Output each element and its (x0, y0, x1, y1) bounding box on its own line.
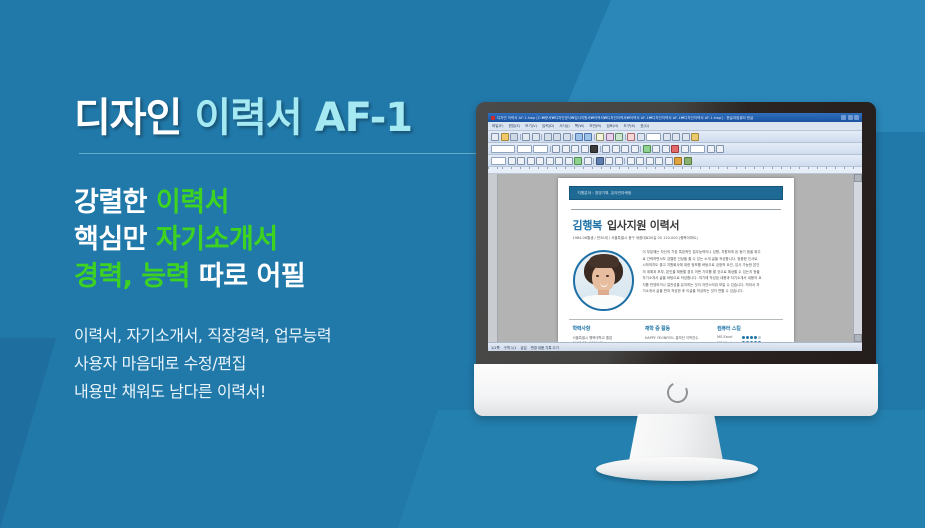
cut-icon[interactable] (544, 133, 552, 141)
subtitle-line-3-green: 경력, 능력 (74, 261, 190, 292)
page-scroll-area: 지원분야 : 경영기획, 온라인마케팅 김행복 입사지원 이력서 1984.06… (498, 174, 853, 342)
app-title-text: 디자인 이력서 AF-1.hwp [C:₩문서₩디자인양식₩입사지원서₩이력서₩… (497, 115, 839, 120)
zoom-out-icon[interactable] (672, 133, 680, 141)
menu-item-format[interactable]: 서식(J) (559, 124, 569, 129)
zoom-in-icon[interactable] (663, 133, 671, 141)
resume-column-activities: 재학 중 활동 HAPPY YEONFEEL 홍보단 이학연수 2003.06~… (645, 325, 710, 342)
save-icon[interactable] (510, 133, 518, 141)
app-menu-bar[interactable]: 파일(F) 편집(E) 보기(V) 입력(D) 서식(J) 쪽(W) 보안(R)… (488, 122, 862, 131)
insert-table-icon[interactable] (596, 133, 604, 141)
toolbar-separator (594, 134, 595, 140)
close-icon[interactable] (854, 115, 859, 120)
horizontal-ruler[interactable] (488, 167, 862, 174)
font-color-icon[interactable] (590, 145, 598, 153)
toolbar-formatting[interactable] (488, 143, 862, 155)
resume-column-education: 학력사항 서울특별시 행복대학교 졸업 1997.03~2000.02 (573, 325, 638, 342)
skill-rating (742, 336, 761, 339)
subtitle-line-2: 핵심만 자기소개서 (74, 221, 494, 258)
bold-icon[interactable] (552, 145, 560, 153)
hwp-app-icon (491, 116, 495, 120)
flip-icon[interactable] (646, 157, 654, 165)
undo-icon[interactable] (575, 133, 583, 141)
resume-divider-top (571, 209, 781, 210)
menu-item-table[interactable]: 표(Q) (640, 124, 649, 129)
paste-icon[interactable] (563, 133, 571, 141)
vertical-scrollbar[interactable] (853, 174, 862, 342)
education-line: 1997.03~2000.02 (573, 341, 638, 342)
monitor-mockup: 디자인 이력서 AF-1.hwp [C:₩문서₩디자인양식₩입사지원서₩이력서₩… (476, 102, 878, 408)
rating-dot-filled (742, 336, 745, 339)
print-preview-icon[interactable] (532, 133, 540, 141)
fit-page-icon[interactable] (682, 133, 690, 141)
rating-dot-empty (758, 336, 761, 339)
activities-line: 2003.06~2004.05 (1년) (645, 341, 710, 342)
style-select[interactable] (491, 145, 515, 153)
resume-title: 입사지원 이력서 (607, 217, 679, 233)
toolbar-standard[interactable] (488, 131, 862, 143)
photo-hair-front (589, 254, 619, 268)
intro-line: 자기소개서 글을 바탕으로 작성합니다. 여기에 작성된 내용과 자기소개서 내… (643, 276, 783, 281)
description-line-3: 내용만 채워도 남다른 이력서! (74, 378, 494, 406)
shape-preset-select[interactable] (491, 157, 506, 165)
redo-icon[interactable] (584, 133, 592, 141)
polygon-shape-icon[interactable] (555, 157, 563, 165)
rating-dot-filled (758, 341, 761, 342)
photo-face (592, 265, 615, 292)
rating-dot-filled (746, 341, 749, 342)
resume-heading: 김행복 입사지원 이력서 (569, 217, 783, 233)
resume-columns: 학력사항 서울특별시 행복대학교 졸업 1997.03~2000.02 재학 중… (569, 319, 783, 342)
scroll-up-arrow[interactable] (854, 174, 862, 182)
menu-item-tools[interactable]: 도구(K) (623, 124, 635, 129)
resume-column-computer-skills: 컴퓨터 스킬 MS-Excel (717, 325, 782, 342)
menu-item-input[interactable]: 입력(D) (542, 124, 554, 129)
toolbar-drawing[interactable] (488, 155, 862, 167)
hero-text-column: 디자인 이력서 AF-1 강렬한 이력서 핵심만 자기소개서 경력, 능력 따로… (74, 96, 494, 407)
skill-label: MS-Word (717, 341, 739, 343)
object-properties-icon[interactable] (674, 157, 682, 165)
status-track-changes: 변경 내용 기록 끄기 (531, 345, 559, 350)
border-icon[interactable] (681, 145, 689, 153)
window-controls[interactable] (841, 115, 859, 120)
resume-intro-text: 이 부분에는 자신의 가장 특징적인 업무능력이나 성향, 지원하게 된 동기 … (643, 250, 783, 311)
rating-dot-filled (746, 336, 749, 339)
minimize-icon[interactable] (841, 115, 846, 120)
underline-icon[interactable] (571, 145, 579, 153)
italic-icon[interactable] (562, 145, 570, 153)
open-file-icon[interactable] (501, 133, 509, 141)
resume-field-band: 지원분야 : 경영기획, 온라인마케팅 (569, 186, 783, 200)
education-heading: 학력사항 (573, 325, 638, 332)
page-title-white: 디자인 (74, 95, 194, 141)
select-arrow-icon[interactable] (508, 157, 516, 165)
subtitle-line-1-green: 이력서 (156, 187, 229, 218)
group-icon[interactable] (584, 157, 592, 165)
intro-line: 의 계획과 포부, 본인을 채용할 경우 어떤 기여를 할 것으로 예상할 수 … (643, 270, 783, 275)
line-color-icon[interactable] (605, 157, 613, 165)
subtitle-line-3: 경력, 능력 따로 어필 (74, 258, 494, 295)
align-left-icon[interactable] (602, 145, 610, 153)
textbox-icon[interactable] (574, 157, 582, 165)
maximize-icon[interactable] (848, 115, 853, 120)
menu-item-page[interactable]: 쪽(W) (575, 124, 585, 129)
activities-heading: 재학 중 활동 (645, 325, 710, 332)
slide-canvas: 디자인 이력서 AF-1 강렬한 이력서 핵심만 자기소개서 경력, 능력 따로… (0, 0, 925, 528)
applicant-name: 김행복 (573, 217, 602, 233)
ellipse-shape-icon[interactable] (536, 157, 544, 165)
menu-item-file[interactable]: 파일(F) (492, 124, 503, 129)
spellcheck-icon[interactable] (627, 133, 635, 141)
rating-dot-filled (754, 336, 757, 339)
hero-description: 이력서, 자기소개서, 직장경력, 업무능력 사용자 마음대로 수정/편집 내용… (74, 322, 494, 407)
skill-rating (742, 341, 761, 342)
freeform-shape-icon[interactable] (565, 157, 573, 165)
subtitle-line-2-green: 자기소개서 (156, 224, 278, 255)
toolbar-separator (640, 146, 641, 152)
hero-subtitle: 강렬한 이력서 핵심만 자기소개서 경력, 능력 따로 어필 (74, 184, 494, 296)
applicant-meta: 1984.06월생 / 만30세 / 서울특별시 중구 세종대로00길 00 1… (569, 236, 783, 241)
fill-color-icon[interactable] (596, 157, 604, 165)
intro-line: 기소개서 글을 먼저 작성한 후 이글을 작성하는 것이 편할 수 있습니다. (643, 289, 783, 294)
document-canvas: 지원분야 : 경영기획, 온라인마케팅 김행복 입사지원 이력서 1984.06… (488, 174, 862, 342)
macro-icon[interactable] (684, 157, 692, 165)
circle-logo-icon (664, 379, 690, 405)
new-document-icon[interactable] (491, 133, 499, 141)
activities-line: HAPPY YEONFEEL 홍보단 이학연수 (645, 335, 710, 340)
rating-dot-filled (750, 341, 753, 342)
insert-chart-icon[interactable] (606, 133, 614, 141)
toolbar-separator (624, 158, 625, 164)
zoom-level-field[interactable] (646, 133, 661, 141)
subtitle-line-2-white: 핵심만 (74, 224, 156, 255)
rating-dot-filled (742, 341, 745, 342)
insert-image-icon[interactable] (615, 133, 623, 141)
font-family-select[interactable] (517, 145, 532, 153)
order-back-icon[interactable] (665, 157, 673, 165)
photo-eye-right (606, 275, 609, 277)
vertical-ruler (488, 174, 498, 342)
skills-heading: 컴퓨터 스킬 (717, 325, 782, 332)
title-divider (79, 153, 477, 154)
font-size-select[interactable] (533, 145, 548, 153)
align-justify-icon[interactable] (631, 145, 639, 153)
intro-line: 로 간략하면서도 강렬한 인상을 줄 수 있는 소개 글을 작성합니다. 정중한… (643, 257, 783, 262)
align-objects-icon[interactable] (627, 157, 635, 165)
highlight-icon[interactable] (691, 133, 699, 141)
toolbar-separator (550, 146, 551, 152)
copy-icon[interactable] (553, 133, 561, 141)
page-title-accent: 이력서 AF-1 (194, 95, 412, 141)
word-processor-window: 디자인 이력서 AF-1.hwp [C:₩문서₩디자인양식₩입사지원서₩이력서₩… (488, 113, 862, 351)
line-spacing-icon[interactable] (671, 145, 679, 153)
numbered-list-icon[interactable] (652, 145, 660, 153)
monitor-chin (474, 364, 878, 416)
find-icon[interactable] (637, 133, 645, 141)
menu-item-security[interactable]: 보안(R) (589, 124, 601, 129)
order-front-icon[interactable] (655, 157, 663, 165)
indent-increase-icon[interactable] (662, 145, 670, 153)
resume-intro-section: 이 부분에는 자신의 가장 특징적인 업무능력이나 성향, 지원하게 된 동기 … (569, 250, 783, 311)
print-icon[interactable] (522, 133, 530, 141)
rotate-icon[interactable] (636, 157, 644, 165)
line-shape-icon[interactable] (517, 157, 525, 165)
app-status-bar: 1/1쪽 구역 1/1 삽입 변경 내용 기록 끄기 (488, 342, 862, 351)
resume-document: 지원분야 : 경영기획, 온라인마케팅 김행복 입사지원 이력서 1984.06… (558, 178, 794, 342)
toolbar-separator (625, 134, 626, 140)
status-page: 1/1쪽 (491, 345, 500, 350)
skill-row: MS-Word (717, 341, 782, 343)
align-center-icon[interactable] (612, 145, 620, 153)
intro-line: 지를 반영하거나 일관성을 유지하는 것이 자연스러워 보일 수 있습니다. 따… (643, 283, 783, 288)
skill-row: MS-Excel (717, 335, 782, 339)
skill-label: MS-Excel (717, 335, 739, 339)
columns-icon[interactable] (716, 145, 724, 153)
monitor-bezel: 디자인 이력서 AF-1.hwp [C:₩문서₩디자인양식₩입사지원서₩이력서₩… (476, 102, 876, 370)
shading-icon[interactable] (707, 145, 715, 153)
monitor-screen: 디자인 이력서 AF-1.hwp [C:₩문서₩디자인양식₩입사지원서₩이력서₩… (488, 113, 862, 351)
rating-dot-filled (750, 336, 753, 339)
subtitle-line-1: 강렬한 이력서 (74, 184, 494, 221)
toolbar-separator (600, 146, 601, 152)
intro-line: 이 부분에는 자신의 가장 특징적인 업무능력이나 성향, 지원하게 된 동기 … (643, 250, 783, 255)
subtitle-line-1-white: 강렬한 (74, 187, 156, 218)
education-line: 서울특별시 행복대학교 졸업 (573, 335, 638, 340)
status-section: 구역 1/1 (504, 345, 517, 350)
profile-photo (573, 250, 634, 311)
photo-eye-left (596, 275, 599, 277)
menu-item-edit[interactable]: 편집(E) (508, 124, 520, 129)
monitor-stand-base (596, 457, 758, 481)
menu-item-view[interactable]: 보기(V) (525, 124, 537, 129)
line-spacing-select[interactable] (690, 145, 705, 153)
strikethrough-icon[interactable] (581, 145, 589, 153)
align-right-icon[interactable] (621, 145, 629, 153)
photo-shirt (580, 295, 627, 311)
shadow-icon[interactable] (615, 157, 623, 165)
arc-shape-icon[interactable] (546, 157, 554, 165)
description-line-1: 이력서, 자기소개서, 직장경력, 업무능력 (74, 322, 494, 350)
resume-field-text: 지원분야 : 경영기획, 온라인마케팅 (578, 191, 632, 196)
rectangle-shape-icon[interactable] (527, 157, 535, 165)
toolbar-separator (572, 134, 573, 140)
toolbar-separator (520, 134, 521, 140)
bullet-list-icon[interactable] (643, 145, 651, 153)
page-title: 디자인 이력서 AF-1 (74, 96, 494, 141)
intro-line: 시작하지도 좋고 지원회사에 대한 정보를 바탕으로 긍정적 요건, 입사 가능… (643, 263, 783, 268)
app-title-bar: 디자인 이력서 AF-1.hwp [C:₩문서₩디자인양식₩입사지원서₩이력서₩… (488, 113, 862, 122)
subtitle-line-3-white-tail: 따로 어필 (190, 261, 305, 292)
rating-dot-filled (754, 341, 757, 342)
toolbar-separator (541, 134, 542, 140)
menu-item-review[interactable]: 검토(H) (606, 124, 618, 129)
scroll-down-arrow[interactable] (854, 334, 862, 342)
toolbar-separator (593, 158, 594, 164)
status-insert-mode: 삽입 (520, 345, 526, 350)
description-line-2: 사용자 마음대로 수정/편집 (74, 350, 494, 378)
